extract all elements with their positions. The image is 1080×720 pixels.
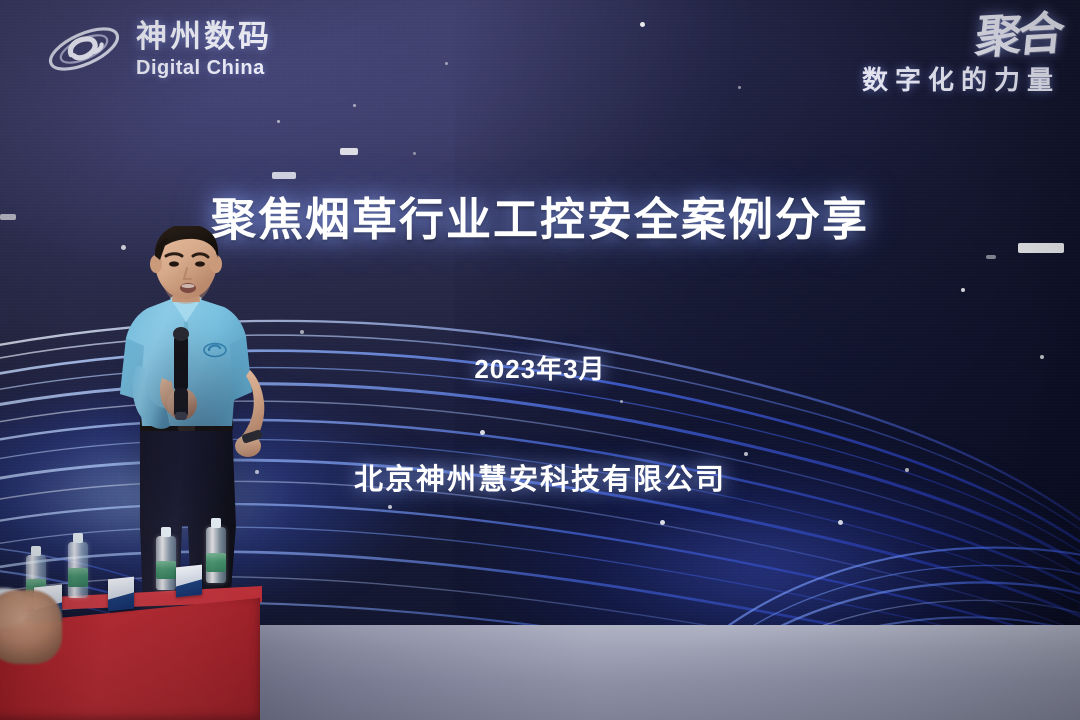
bottle-label xyxy=(156,561,176,579)
logo-english-name: Digital China xyxy=(136,58,272,78)
name-card xyxy=(108,577,134,612)
slogan-calligraphy: 聚合 xyxy=(973,12,1062,59)
conference-photo: 神州数码 Digital China 聚合 数字化的力量 聚焦烟草行业工控安全案… xyxy=(0,0,1080,720)
name-card xyxy=(176,565,202,598)
water-bottle xyxy=(206,527,226,583)
foreground-attendee-head xyxy=(0,590,62,664)
foreground-table xyxy=(0,570,280,720)
water-bottle xyxy=(156,536,176,590)
event-slogan: 聚合 数字化的力量 xyxy=(862,14,1060,97)
digital-china-logo: 神州数码 Digital China xyxy=(44,18,272,80)
water-bottle xyxy=(68,542,88,598)
bottle-cap xyxy=(161,527,171,537)
logo-chinese-name: 神州数码 xyxy=(136,21,272,52)
bottle-cap xyxy=(73,533,83,543)
galaxy-swirl-icon xyxy=(44,18,124,80)
bottle-cap xyxy=(31,546,41,556)
logo-wordmark: 神州数码 Digital China xyxy=(136,21,272,78)
bottle-label xyxy=(206,553,226,572)
bottle-cap xyxy=(211,518,221,528)
slogan-subtitle: 数字化的力量 xyxy=(862,60,1060,97)
bottle-label xyxy=(68,568,88,587)
